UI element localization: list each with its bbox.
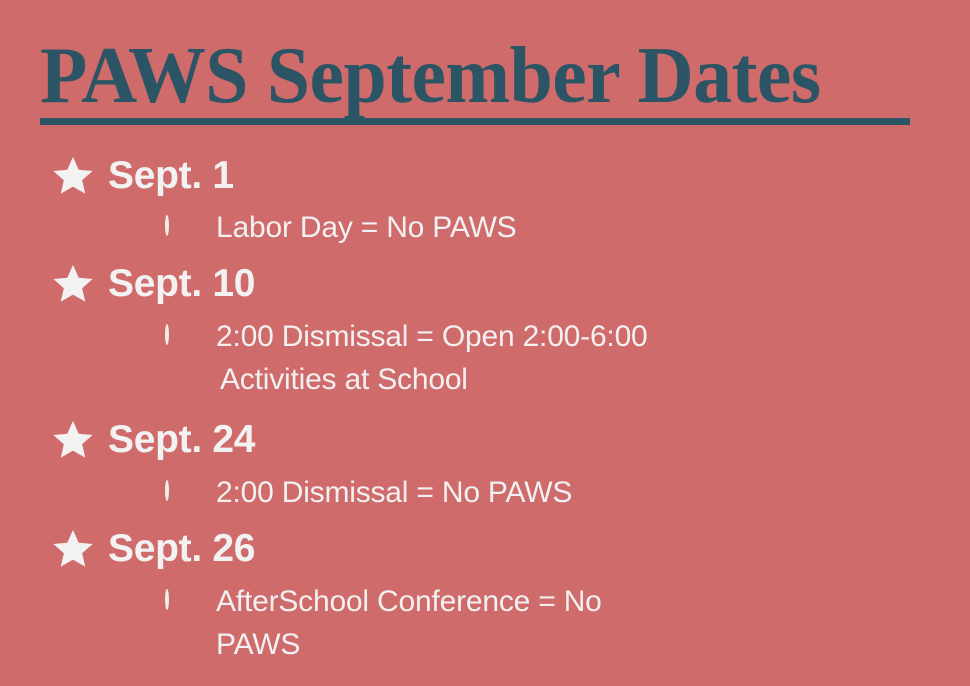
star-icon bbox=[50, 154, 108, 198]
circle-outline-icon bbox=[165, 326, 216, 344]
sub-item-line-1: 2:00 Dismissal = No PAWS bbox=[216, 476, 572, 509]
sub-item-line-1: 2:00 Dismissal = Open 2:00-6:00 bbox=[216, 320, 648, 353]
sub-item-text: 2:00 Dismissal = Open 2:00-6:00 Activiti… bbox=[216, 315, 648, 401]
page-title: PAWS September Dates bbox=[40, 34, 903, 118]
date-row: Sept. 26 bbox=[0, 520, 970, 578]
circle-outline-icon bbox=[165, 482, 216, 500]
date-row: Sept. 1 bbox=[0, 148, 970, 204]
sub-item-row: AfterSchool Conference = No PAWS bbox=[0, 580, 970, 666]
sub-item-row: 2:00 Dismissal = No PAWS bbox=[0, 471, 970, 514]
list-item: Sept. 24 2:00 Dismissal = No PAWS bbox=[0, 411, 970, 514]
slide-canvas: PAWS September Dates Sept. 1 Labor Day =… bbox=[0, 0, 970, 686]
star-icon bbox=[50, 418, 108, 462]
date-row: Sept. 10 bbox=[0, 255, 970, 313]
star-icon bbox=[50, 527, 108, 571]
sub-item-text: AfterSchool Conference = No PAWS bbox=[216, 580, 686, 666]
circle-outline-icon bbox=[165, 591, 216, 609]
list-item: Sept. 10 2:00 Dismissal = Open 2:00-6:00… bbox=[0, 255, 970, 401]
sub-item-line-1: AfterSchool Conference = No PAWS bbox=[216, 585, 602, 661]
sub-item-line-1: Labor Day = No PAWS bbox=[216, 211, 517, 244]
date-label: Sept. 10 bbox=[108, 262, 255, 306]
date-label: Sept. 26 bbox=[108, 527, 255, 571]
sub-item-text: Labor Day = No PAWS bbox=[216, 206, 517, 249]
circle-outline-icon bbox=[165, 217, 216, 235]
sub-item-text: 2:00 Dismissal = No PAWS bbox=[216, 471, 572, 514]
sub-item-line-2: Activities at School bbox=[216, 358, 648, 401]
agenda-list: Sept. 1 Labor Day = No PAWS Sept. 10 bbox=[0, 148, 970, 670]
title-underline-rule bbox=[40, 118, 910, 125]
title-block: PAWS September Dates bbox=[40, 34, 930, 118]
sub-item-row: Labor Day = No PAWS bbox=[0, 206, 970, 249]
list-item: Sept. 26 AfterSchool Conference = No PAW… bbox=[0, 520, 970, 666]
star-icon bbox=[50, 262, 108, 306]
sub-item-row: 2:00 Dismissal = Open 2:00-6:00 Activiti… bbox=[0, 315, 970, 401]
date-row: Sept. 24 bbox=[0, 411, 970, 469]
date-label: Sept. 24 bbox=[108, 418, 255, 462]
list-item: Sept. 1 Labor Day = No PAWS bbox=[0, 148, 970, 249]
date-label: Sept. 1 bbox=[108, 154, 234, 198]
